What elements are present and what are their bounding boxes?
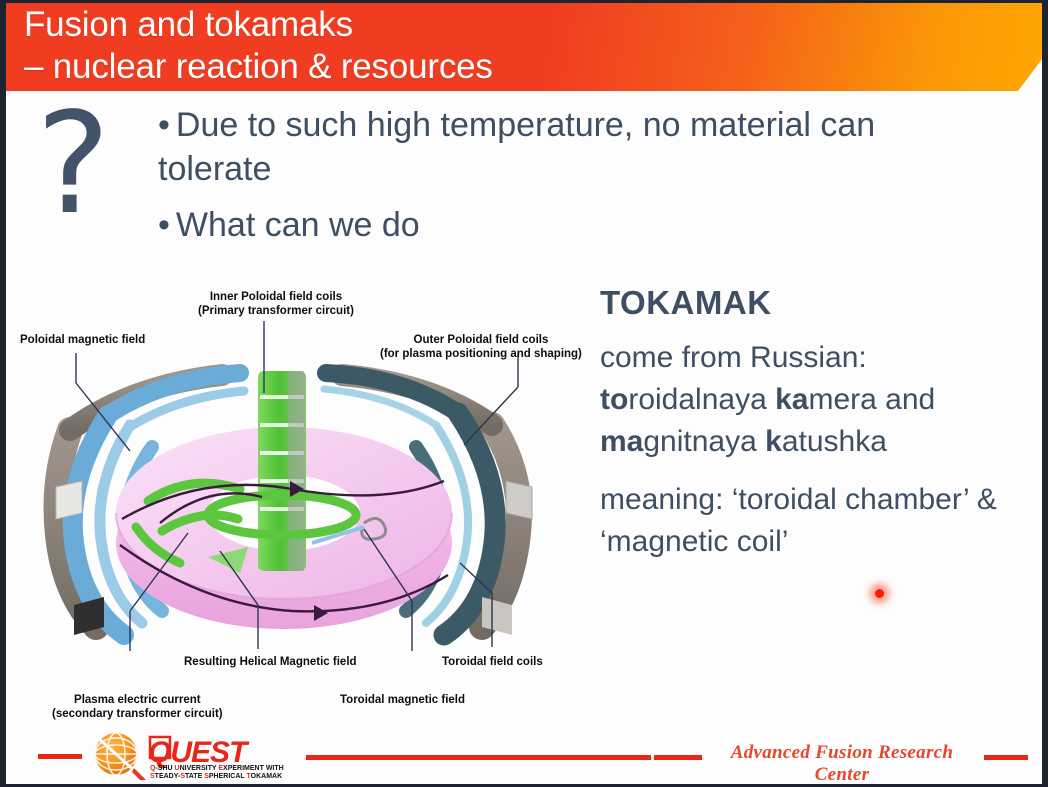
footer-rule-right-2	[984, 755, 1028, 760]
figure-label-line2: (secondary transformer circuit)	[52, 708, 223, 720]
footer-rule-middle	[306, 755, 651, 760]
figure-label-poloidal-field: Poloidal magnetic field	[20, 333, 145, 347]
figure-label-toroidal-field: Toroidal magnetic field	[340, 693, 465, 707]
figure-label-line1: Outer Poloidal field coils	[414, 334, 549, 346]
quest-logo-graphic: QUEST Q-SHU UNIVERSITY EXPERIMENT WITH S…	[84, 728, 314, 782]
bullet-marker-icon: •	[158, 203, 170, 247]
slide-title-line2: – nuclear reaction & resources	[24, 47, 493, 86]
tokamak-diagram: Inner Poloidal field coils(Primary trans…	[12, 275, 592, 735]
figure-label-inner-poloidal: Inner Poloidal field coils(Primary trans…	[198, 290, 354, 318]
svg-text:Q-SHU UNIVERSITY EXPERIMENT WI: Q-SHU UNIVERSITY EXPERIMENT WITH	[150, 765, 284, 772]
figure-label-line1: Plasma electric current	[74, 694, 201, 706]
slide-footer: QUEST Q-SHU UNIVERSITY EXPERIMENT WITH S…	[6, 728, 1048, 784]
laser-pointer-dot	[875, 589, 884, 598]
svg-text:STEADY-STATE SPHERICAL TOKAMAK: STEADY-STATE SPHERICAL TOKAMAK	[150, 773, 282, 780]
bullet-list: •Due to such high temperature, no materi…	[158, 103, 918, 247]
quest-logo-subtitle: Q-SHU UNIVERSITY EXPERIMENT WITH STEADY-…	[150, 765, 284, 780]
etymology-parts: toroidalnaya kamera and magnitnaya katus…	[600, 383, 935, 458]
figure-label-outer-poloidal: Outer Poloidal field coils(for plasma po…	[380, 333, 582, 361]
slide: Fusion and tokamaks – nuclear reaction &…	[0, 0, 1048, 787]
bullet-item-2: •What can we do	[158, 203, 918, 247]
figure-label-line1: Inner Poloidal field coils	[210, 291, 342, 303]
figure-label-line2: (for plasma positioning and shaping)	[380, 348, 582, 360]
figure-label-plasma-current: Plasma electric current(secondary transf…	[52, 693, 223, 721]
tokamak-text-block: TOKAMAK come from Russian: toroidalnaya …	[600, 283, 1040, 579]
footer-center-text: Advanced Fusion Research Center	[706, 742, 978, 786]
footer-rule-left	[38, 754, 82, 759]
slide-title-line1: Fusion and tokamaks	[24, 5, 353, 44]
slide-title: Fusion and tokamaks – nuclear reaction &…	[24, 4, 493, 88]
footer-rule-right-1	[654, 755, 702, 760]
tokamak-meaning: meaning: ‘toroidal chamber’ & ‘magnetic …	[600, 479, 1040, 563]
bullet-text-2: What can we do	[176, 206, 420, 244]
slide-header: Fusion and tokamaks – nuclear reaction &…	[6, 3, 1048, 93]
question-mark-icon: ?	[36, 95, 110, 235]
quest-globe-icon	[95, 733, 146, 780]
figure-label-helical-field: Resulting Helical Magnetic field	[184, 655, 357, 669]
figure-label-line2: (Primary transformer circuit)	[198, 305, 354, 317]
bullet-text-1: Due to such high temperature, no materia…	[158, 106, 875, 188]
etymology-prefix: come from Russian:	[600, 341, 867, 374]
bullet-item-1: •Due to such high temperature, no materi…	[158, 103, 918, 191]
tokamak-heading: TOKAMAK	[600, 283, 1040, 323]
bullet-marker-icon: •	[158, 103, 170, 147]
quest-logo: QUEST Q-SHU UNIVERSITY EXPERIMENT WITH S…	[84, 728, 314, 782]
figure-label-toroidal-coils: Toroidal field coils	[442, 655, 543, 669]
tokamak-etymology: come from Russian: toroidalnaya kamera a…	[600, 337, 1040, 463]
